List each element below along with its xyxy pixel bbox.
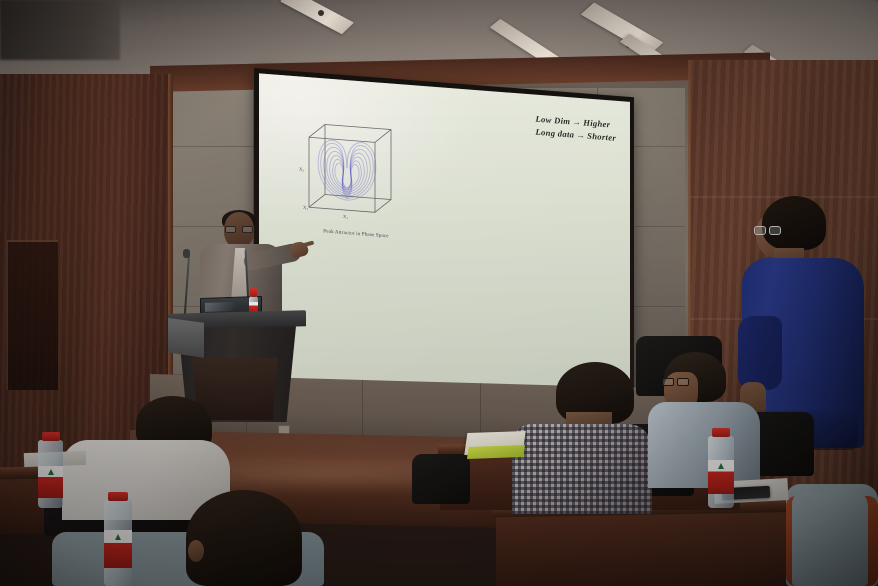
ceiling-light-1 bbox=[280, 0, 354, 34]
chair-dark-5[interactable] bbox=[412, 454, 470, 504]
bottle-cap bbox=[712, 428, 731, 437]
note-2-right: Shorter bbox=[587, 131, 616, 143]
audience-checkered-shirt bbox=[512, 424, 652, 514]
attractor-figure: X₃ X₂ X₁ bbox=[295, 112, 399, 228]
audience-blueshirt-glasses-icon bbox=[662, 378, 688, 386]
slide-notes: Low Dim→Higher Long data→Shorter bbox=[535, 113, 616, 146]
figure-caption: Peak Attractor in Phase Space bbox=[281, 225, 431, 243]
note-2-left: Long data bbox=[535, 127, 574, 140]
screen-surface: X₃ X₂ X₁ Peak Attractor in Phase Space L… bbox=[259, 73, 630, 408]
bottle-cap bbox=[108, 492, 128, 501]
note-1-arrow: → bbox=[570, 116, 583, 127]
presenter-glasses-icon bbox=[225, 226, 253, 233]
wall-niche bbox=[6, 240, 58, 390]
standing-attendee-hair bbox=[762, 196, 826, 250]
bottle-cap bbox=[250, 288, 256, 297]
axis-label-y: X₃ bbox=[299, 166, 304, 171]
water-bottle-right bbox=[708, 428, 734, 508]
water-bottle-left-back bbox=[38, 432, 63, 508]
standing-attendee bbox=[742, 196, 872, 526]
bottle-tree-logo-icon bbox=[718, 463, 724, 469]
bottle-label bbox=[38, 466, 63, 498]
chair-fabric-right-inner[interactable] bbox=[792, 490, 868, 586]
water-bottle-left-front bbox=[104, 492, 132, 586]
note-2-arrow: → bbox=[574, 130, 587, 141]
note-1-right: Higher bbox=[583, 117, 610, 129]
notebook-green-pages bbox=[467, 445, 525, 459]
audience-foreground-ear bbox=[188, 540, 204, 562]
standing-attendee-glasses-icon bbox=[754, 226, 780, 235]
standing-attendee-sleeve bbox=[738, 316, 782, 390]
microphone-head-left bbox=[183, 249, 190, 258]
ceiling-light-3 bbox=[855, 0, 878, 30]
laptop-screen-glare bbox=[205, 302, 235, 312]
bottle-label bbox=[708, 460, 734, 494]
bottle-cap bbox=[42, 432, 60, 441]
bottle-tree-logo-icon bbox=[115, 534, 121, 540]
note-1-left: Low Dim bbox=[535, 114, 570, 127]
ceiling-light-fixture-1 bbox=[318, 10, 324, 16]
lecture-hall-photo: X₃ X₂ X₁ Peak Attractor in Phase Space L… bbox=[0, 0, 878, 586]
audience-foreground-head bbox=[186, 490, 302, 586]
phase-space-box bbox=[295, 112, 399, 228]
podium-side-shelf bbox=[168, 318, 204, 358]
slide-content: X₃ X₂ X₁ Peak Attractor in Phase Space L… bbox=[259, 73, 630, 408]
bottle-label bbox=[104, 530, 132, 568]
audience-blueshirt-torso bbox=[648, 402, 760, 488]
axis-label-x: X₁ bbox=[343, 214, 348, 219]
bottle-tree-logo-icon bbox=[48, 469, 54, 475]
axis-label-z: X₂ bbox=[303, 205, 308, 210]
ceiling-shadow bbox=[0, 0, 120, 60]
